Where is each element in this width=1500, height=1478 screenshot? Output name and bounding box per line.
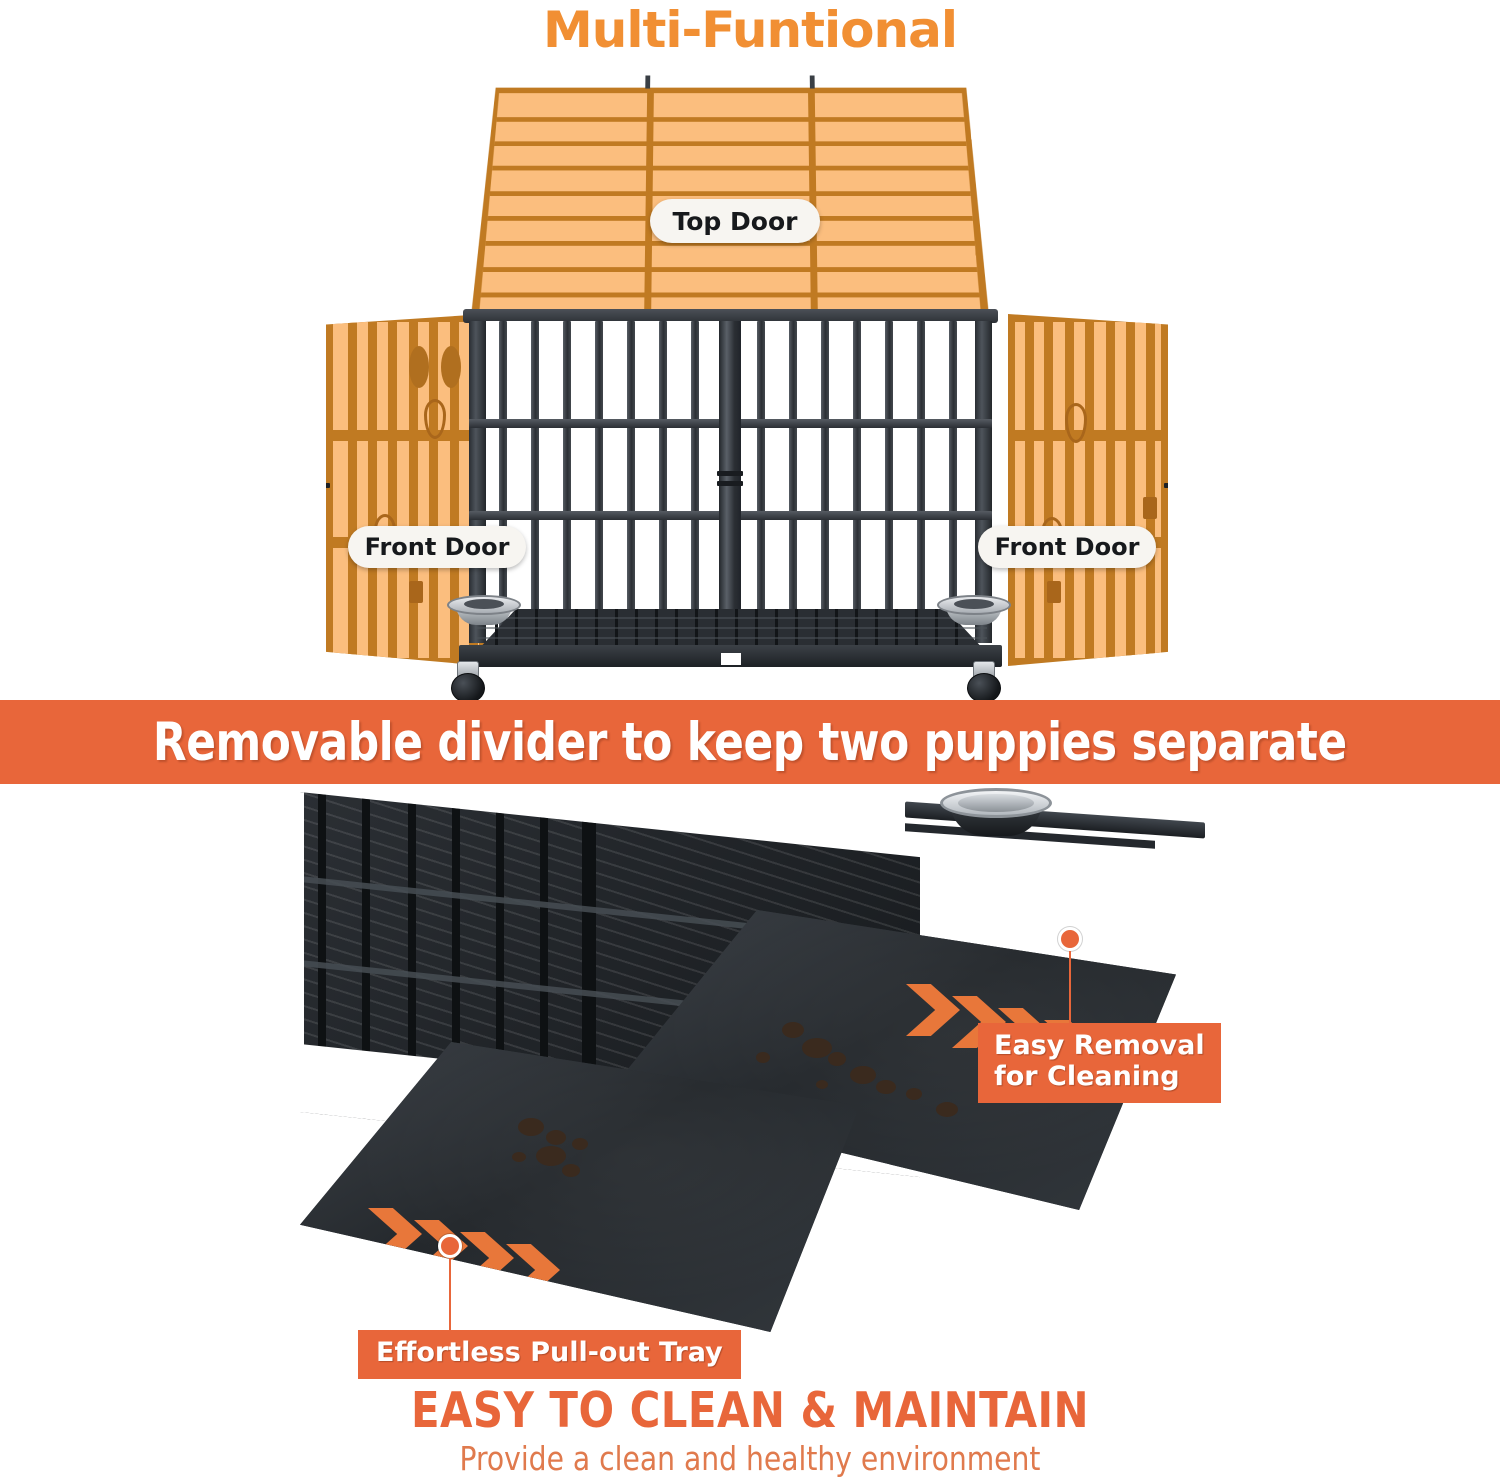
latch-hook-icon <box>1065 403 1087 443</box>
label-top-door: Top Door <box>650 199 820 243</box>
easy-clean-photo-section <box>0 784 1500 1384</box>
door-hinge-pin <box>1164 483 1180 488</box>
food-bowl-photo <box>940 788 1052 838</box>
top-door-hinge-pin <box>810 76 815 89</box>
front-door-right-panel <box>1008 314 1168 666</box>
door-hinge-pin <box>314 483 330 488</box>
callout-line-1: Effortless Pull-out Tray <box>376 1338 723 1369</box>
caster-wheel-front-left <box>451 661 485 703</box>
door-handle-icon <box>441 346 461 388</box>
callout-line-1: Easy Removal <box>994 1031 1205 1062</box>
top-door-hinge-pin <box>645 76 650 89</box>
center-latch-icon <box>717 481 743 486</box>
product-infographic: Multi-Funtional <box>0 0 1500 1478</box>
food-bowl-left <box>447 595 521 625</box>
door-latch-icon <box>1143 497 1157 519</box>
callout-line-2: for Cleaning <box>994 1062 1180 1093</box>
door-handle-icon <box>409 346 429 388</box>
callout-easy-removal: Easy Removal for Cleaning <box>978 1023 1221 1103</box>
label-front-door-left: Front Door <box>348 526 526 568</box>
marker-dot-pull-out-tray <box>438 1234 462 1258</box>
base-notch <box>721 653 741 665</box>
door-latch-icon <box>409 581 423 603</box>
marker-dot-easy-removal <box>1058 927 1082 951</box>
banner-text: Removable divider to keep two puppies se… <box>153 712 1347 773</box>
dog-crate-body <box>469 309 992 669</box>
door-latch-icon <box>1047 581 1061 603</box>
divider-feature-banner: Removable divider to keep two puppies se… <box>0 700 1500 784</box>
callout-pull-out-tray: Effortless Pull-out Tray <box>358 1330 741 1379</box>
label-front-door-right: Front Door <box>978 526 1156 568</box>
leader-line-easy-removal <box>1069 951 1071 1023</box>
food-bowl-right <box>937 595 1011 625</box>
multifunctional-illustration-section: Top Door Front Door Front Door <box>0 58 1500 700</box>
bottom-heading: EASY TO CLEAN & MAINTAIN <box>38 1382 1463 1440</box>
bottom-subheading: Provide a clean and healthy environment <box>38 1440 1463 1478</box>
caster-wheel-front-right <box>967 661 1001 703</box>
center-latch-icon <box>717 471 743 476</box>
page-title: Multi-Funtional <box>0 2 1500 58</box>
leader-line-pull-out-tray <box>449 1258 451 1330</box>
crate-front-bars <box>469 321 992 643</box>
